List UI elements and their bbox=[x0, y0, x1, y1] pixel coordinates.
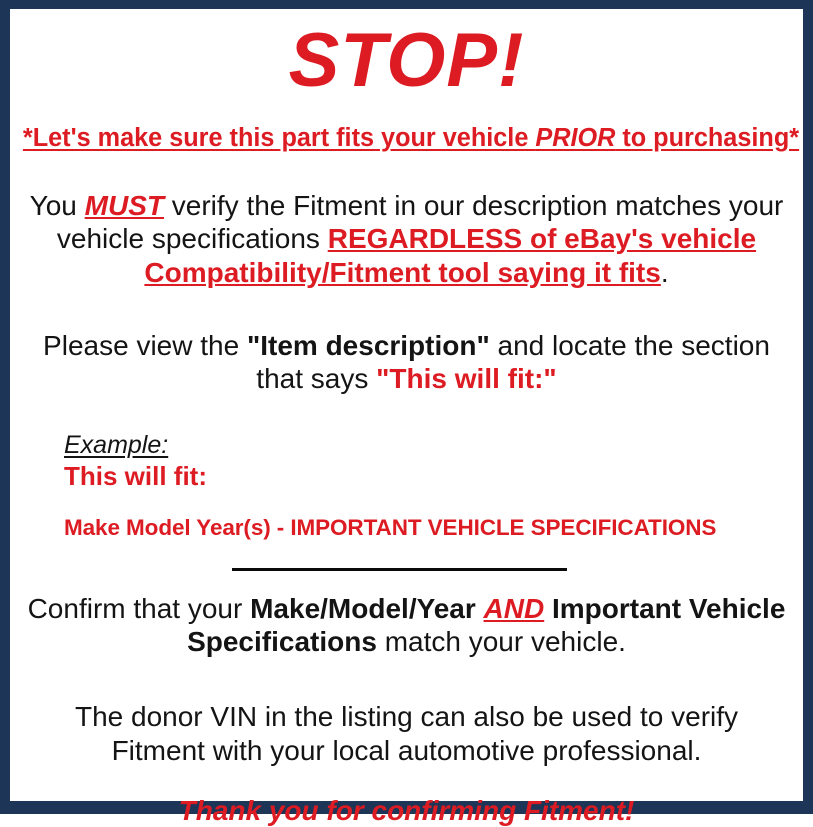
example-label: Example: bbox=[64, 431, 794, 460]
example-spec-line: Make Model Year(s) - IMPORTANT VEHICLE S… bbox=[64, 515, 794, 541]
p3-segment-3 bbox=[476, 593, 484, 624]
p1-segment-1: You bbox=[30, 190, 85, 221]
fitment-notice-card: STOP! *Let's make sure this part fits yo… bbox=[0, 0, 813, 814]
p2-emphasis-this-will-fit: "This will fit:" bbox=[376, 363, 557, 394]
closing-thank-you: Thank you for confirming Fitment! bbox=[19, 794, 794, 827]
p3-segment-7: match your vehicle. bbox=[377, 626, 626, 657]
p3-segment-1: Confirm that your bbox=[28, 593, 251, 624]
p1-emphasis-must: MUST bbox=[85, 190, 164, 221]
subtitle-lead-text: *Let's make sure this part fits your veh… bbox=[23, 124, 535, 152]
p3-segment-5 bbox=[544, 593, 552, 624]
p1-segment-5: . bbox=[661, 257, 669, 288]
p3-emphasis-and: AND bbox=[484, 593, 545, 624]
paragraph-donor-vin: The donor VIN in the listing can also be… bbox=[19, 700, 794, 767]
page-title: STOP! bbox=[19, 23, 794, 99]
example-block: Example: This will fit: Make Model Year(… bbox=[19, 431, 794, 541]
p3-emphasis-make-model-year: Make/Model/Year bbox=[250, 593, 476, 624]
subtitle-trail-text: to purchasing* bbox=[615, 124, 799, 152]
example-fit-heading: This will fit: bbox=[64, 461, 794, 491]
paragraph-confirm-match: Confirm that your Make/Model/Year AND Im… bbox=[19, 592, 794, 659]
section-divider bbox=[232, 568, 567, 571]
paragraph-verify-fitment: You MUST verify the Fitment in our descr… bbox=[19, 189, 794, 289]
subtitle-banner: *Let's make sure this part fits your veh… bbox=[23, 124, 790, 152]
p2-segment-1: Please view the bbox=[43, 330, 247, 361]
section-divider-wrapper bbox=[19, 568, 794, 572]
subtitle-emphasis-prior: PRIOR bbox=[535, 124, 615, 152]
paragraph-item-description: Please view the "Item description" and l… bbox=[19, 329, 794, 396]
p2-emphasis-item-description: "Item description" bbox=[247, 330, 490, 361]
fitment-notice-content: STOP! *Let's make sure this part fits yo… bbox=[10, 23, 803, 815]
